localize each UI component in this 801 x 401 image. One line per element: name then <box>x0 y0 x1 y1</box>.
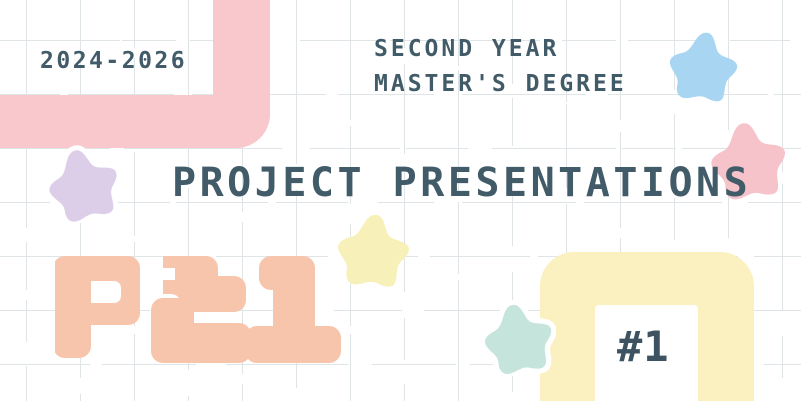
subtitle-block: SECOND YEAR MASTER'S DEGREE <box>374 32 627 102</box>
grid-line-vertical <box>134 0 135 48</box>
grid-line-vertical <box>404 318 405 360</box>
grid-line-vertical <box>782 184 783 310</box>
grid-line-horizontal <box>372 364 456 365</box>
grid-line-horizontal <box>0 364 90 365</box>
grid-line-vertical <box>26 300 27 342</box>
issue-number-badge: #1 <box>617 322 670 371</box>
pink-bracket-horizontal <box>0 95 270 148</box>
star-mint-icon <box>480 300 556 376</box>
year-range-label: 2024-2026 <box>40 48 187 74</box>
grid-line-vertical <box>512 98 513 146</box>
star-yellow-icon <box>333 210 413 290</box>
grid-line-horizontal <box>124 148 282 149</box>
grid-line-vertical <box>80 394 81 401</box>
grid-line-vertical <box>188 0 189 66</box>
grid-line-vertical <box>458 202 459 274</box>
star-blue-icon <box>665 28 741 104</box>
grid-line-horizontal <box>300 40 380 41</box>
subtitle-line-1: SECOND YEAR <box>374 36 559 62</box>
grid-line-horizontal <box>622 148 676 149</box>
grid-line-vertical <box>350 334 351 401</box>
page-title: PROJECT PRESENTATIONS <box>172 160 751 206</box>
grid-line-horizontal <box>310 148 400 149</box>
grid-line-vertical <box>242 384 243 401</box>
poster-canvas: 2024-2026 SECOND YEAR MASTER'S DEGREE PR… <box>0 0 801 401</box>
grid-line-horizontal <box>102 364 196 365</box>
grid-line-vertical <box>296 0 297 102</box>
grid-line-vertical <box>26 242 27 290</box>
subtitle-line-2: MASTER'S DEGREE <box>374 67 627 102</box>
grid-line-horizontal <box>492 148 616 149</box>
grid-line-vertical <box>188 396 189 401</box>
grid-line-horizontal <box>764 364 801 365</box>
grid-line-vertical <box>26 0 27 102</box>
monogram-p2i <box>55 248 345 363</box>
star-purple-icon <box>44 145 122 223</box>
grid-line-vertical <box>134 152 135 236</box>
grid-line-vertical <box>296 98 297 164</box>
grid-line-vertical <box>350 0 351 120</box>
grid-line-horizontal <box>0 40 120 41</box>
grid-line-horizontal <box>0 202 50 203</box>
grid-line-vertical <box>782 0 783 84</box>
grid-line-horizontal <box>774 94 801 95</box>
grid-line-vertical <box>404 384 405 401</box>
grid-line-horizontal <box>754 256 801 257</box>
grid-line-horizontal <box>406 148 468 149</box>
grid-line-horizontal <box>430 256 530 257</box>
grid-line-vertical <box>782 336 783 378</box>
grid-line-horizontal <box>226 364 348 365</box>
grid-line-vertical <box>458 280 459 401</box>
grid-line-vertical <box>26 366 27 401</box>
grid-line-horizontal <box>748 202 801 203</box>
grid-line-horizontal <box>122 40 176 41</box>
